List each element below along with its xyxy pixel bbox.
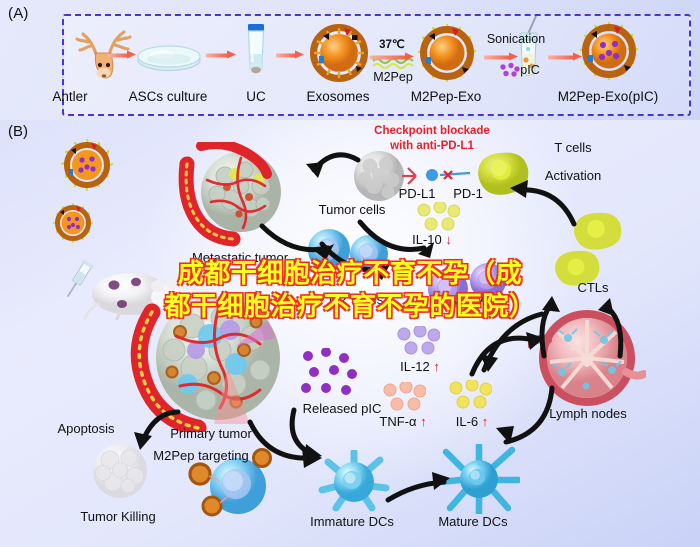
tumor-killing-apoptotic-icon bbox=[86, 440, 154, 502]
lymph-node-icon bbox=[528, 310, 646, 410]
il-10-cytokine-dots-icon bbox=[416, 202, 460, 234]
tnf-alpha-cytokine-dots-icon bbox=[382, 382, 426, 414]
panel-a: (A) bbox=[0, 0, 700, 120]
label-pd-1: PD-1 bbox=[453, 186, 483, 201]
exosome-particle-icon bbox=[310, 24, 368, 82]
annotation-pic: pIC bbox=[520, 63, 539, 77]
il-6-cytokine-dots-icon bbox=[448, 380, 492, 412]
metastatic-tumor-icon bbox=[175, 142, 300, 247]
cytokine-trend-tnf-alpha: ↑ bbox=[420, 414, 427, 429]
mature-dc-icon bbox=[438, 444, 520, 514]
label-il-6: IL-6 ↑ bbox=[456, 414, 489, 429]
stage-label-exosomes: Exosomes bbox=[306, 89, 369, 104]
cytokine-trend-il-10: ↓ bbox=[445, 232, 452, 247]
stage-label-m2pep-exo: M2Pep-Exo bbox=[411, 89, 482, 104]
label-immature-dcs: Immature DCs bbox=[310, 514, 394, 529]
label-ctls: CTLs bbox=[577, 280, 608, 295]
released-pic-dots-icon bbox=[298, 348, 364, 398]
label-tnf-alpha: TNF-α ↑ bbox=[379, 414, 426, 429]
annotation-temperature: 37℃ bbox=[379, 37, 405, 51]
panel-a-arrow-3 bbox=[276, 51, 304, 60]
label-il-12: IL-12 ↑ bbox=[400, 359, 440, 374]
label-activation: Activation bbox=[545, 168, 601, 183]
petri-dish-icon bbox=[136, 42, 202, 72]
m2pep-exosome-pic-icon bbox=[578, 20, 640, 82]
panel-a-arrow-2 bbox=[206, 51, 236, 60]
pic-dots-icon bbox=[498, 62, 522, 78]
label-primary-tumor: Primary tumor bbox=[170, 426, 252, 441]
cytokine-trend-il-6: ↑ bbox=[482, 414, 489, 429]
stage-label-ascs-culture: ASCs culture bbox=[129, 89, 208, 104]
label-il-10: IL-10 ↓ bbox=[412, 232, 452, 247]
label-released-pic: Released pIC bbox=[303, 401, 382, 416]
cytokine-trend-il-12: ↑ bbox=[433, 359, 440, 374]
cytokine-name-tnf-alpha: TNF-α bbox=[379, 414, 416, 429]
label-tumor-cells: Tumor cells bbox=[319, 202, 386, 217]
label-mature-dcs: Mature DCs bbox=[438, 514, 507, 529]
immature-dc-icon bbox=[318, 450, 390, 512]
stage-label-m2pep-exo-pic: M2Pep-Exo(pIC) bbox=[558, 89, 659, 104]
panel-b: (B) bbox=[0, 120, 700, 547]
m2-macrophage-2-icon bbox=[346, 232, 392, 276]
label-metastatic-tumor: Metastatic tumor bbox=[192, 250, 288, 265]
primary-tumor-icon bbox=[118, 292, 313, 432]
annotation-m2pep: M2Pep bbox=[373, 70, 413, 84]
m2pep-exosome-icon bbox=[416, 22, 478, 84]
panel-a-arrow-5 bbox=[484, 53, 518, 62]
panel-a-arrow-4 bbox=[370, 53, 414, 62]
panel-b-letter: (B) bbox=[8, 123, 28, 140]
injected-nanoparticle-2-icon bbox=[52, 202, 94, 244]
figure-root: (A) bbox=[0, 0, 700, 547]
label-m2-tams: M2 TAMs bbox=[329, 292, 383, 307]
label-m2pep-targeting: M2Pep targeting bbox=[153, 448, 248, 463]
label-checkpoint-blockade-line1: Checkpoint blockade bbox=[374, 125, 490, 137]
panel-a-arrow-6 bbox=[548, 53, 582, 62]
stage-label-antler: Antler bbox=[52, 89, 87, 104]
label-lymph-nodes: Lymph nodes bbox=[549, 406, 627, 421]
annotation-sonication: Sonication bbox=[487, 32, 545, 46]
label-pd-l1: PD-L1 bbox=[399, 186, 436, 201]
label-tumor-killing: Tumor Killing bbox=[80, 509, 155, 524]
cytokine-name-il-10: IL-10 bbox=[412, 232, 442, 247]
label-t-cells: T cells bbox=[554, 140, 591, 155]
label-apoptosis: Apoptosis bbox=[57, 421, 114, 436]
cytokine-name-il-6: IL-6 bbox=[456, 414, 478, 429]
injected-nanoparticle-1-icon bbox=[60, 138, 114, 192]
stage-label-uc: UC bbox=[246, 89, 266, 104]
panel-a-arrow-1 bbox=[108, 51, 136, 60]
cytokine-name-il-12: IL-12 bbox=[400, 359, 430, 374]
label-checkpoint-blockade-line2: with anti-PD-L1 bbox=[390, 140, 474, 152]
label-m1-tams: M1 TAMs bbox=[451, 292, 505, 307]
uc-tube-icon bbox=[242, 24, 270, 80]
panel-a-letter: (A) bbox=[8, 5, 29, 22]
il-12-cytokine-dots-icon bbox=[396, 326, 440, 358]
